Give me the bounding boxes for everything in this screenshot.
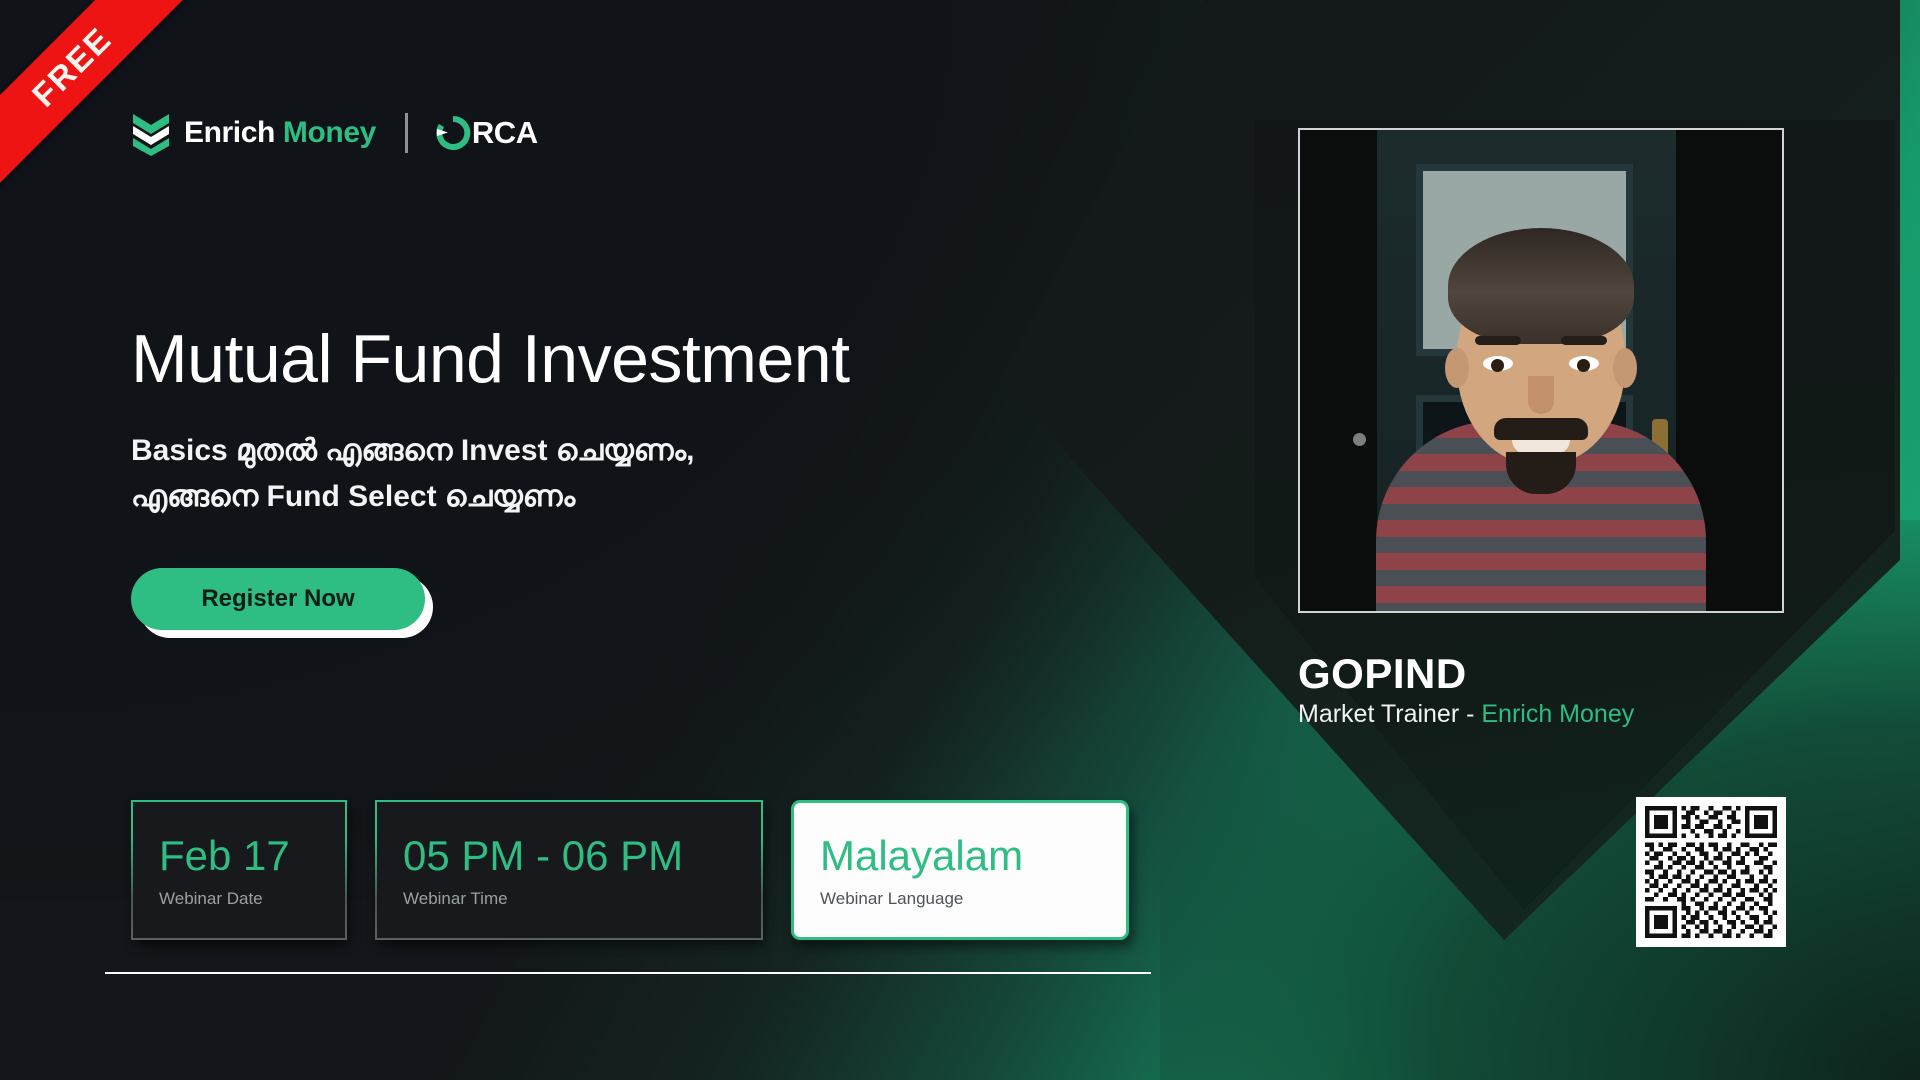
subtitle-line-1: Basics മുതൽ എങ്ങനെ Invest ചെയ്യണം, bbox=[131, 428, 694, 474]
subtitle-line-2: എങ്ങനെ Fund Select ചെയ്യണം bbox=[131, 474, 694, 520]
speaker-role-prefix: Market Trainer - bbox=[1298, 700, 1481, 728]
brand-logo[interactable]: Enrich Money RCA bbox=[131, 110, 538, 156]
webinar-info-cards: Feb 17 Webinar Date 05 PM - 06 PM Webina… bbox=[131, 800, 1129, 940]
free-badge-ribbon: FREE bbox=[0, 0, 207, 202]
speaker-portrait-illustration bbox=[1300, 130, 1782, 611]
page-title: Mutual Fund Investment bbox=[131, 320, 849, 398]
webinar-language-label: Webinar Language bbox=[820, 889, 1100, 909]
speaker-photo bbox=[1298, 128, 1784, 613]
webinar-time-card: 05 PM - 06 PM Webinar Time bbox=[375, 800, 763, 940]
qr-code-icon bbox=[1645, 806, 1777, 938]
webinar-language-card: Malayalam Webinar Language bbox=[791, 800, 1129, 940]
speaker-name: GOPIND bbox=[1298, 650, 1467, 698]
speaker-role-company: Enrich Money bbox=[1481, 700, 1634, 728]
webinar-time-value: 05 PM - 06 PM bbox=[403, 833, 735, 879]
webinar-date-card: Feb 17 Webinar Date bbox=[131, 800, 347, 940]
logo-divider bbox=[405, 113, 408, 153]
webinar-promo-banner: FREE Enrich Money RCA Mutual Fund Invest… bbox=[0, 0, 1920, 1080]
qr-code[interactable] bbox=[1636, 797, 1786, 947]
brand-wordmark: Enrich Money bbox=[184, 116, 376, 150]
partner-logo: RCA bbox=[435, 115, 538, 151]
webinar-date-value: Feb 17 bbox=[159, 833, 319, 879]
webinar-language-value: Malayalam bbox=[820, 833, 1100, 879]
chevron-stack-icon bbox=[131, 110, 171, 156]
brand-name-primary: Enrich bbox=[184, 116, 275, 149]
brand-name-secondary: Money bbox=[283, 116, 376, 149]
webinar-time-label: Webinar Time bbox=[403, 889, 735, 909]
register-now-button[interactable]: Register Now bbox=[131, 568, 425, 630]
page-subtitle: Basics മുതൽ എങ്ങനെ Invest ചെയ്യണം, എങ്ങന… bbox=[131, 428, 694, 519]
bottom-divider bbox=[105, 972, 1151, 974]
free-badge-label: FREE bbox=[25, 20, 120, 115]
register-cta-wrapper: Register Now bbox=[131, 568, 425, 630]
webinar-date-label: Webinar Date bbox=[159, 889, 319, 909]
partner-name: RCA bbox=[472, 115, 538, 151]
orca-circle-arrow-icon bbox=[435, 115, 471, 151]
speaker-role: Market Trainer - Enrich Money bbox=[1298, 700, 1634, 729]
